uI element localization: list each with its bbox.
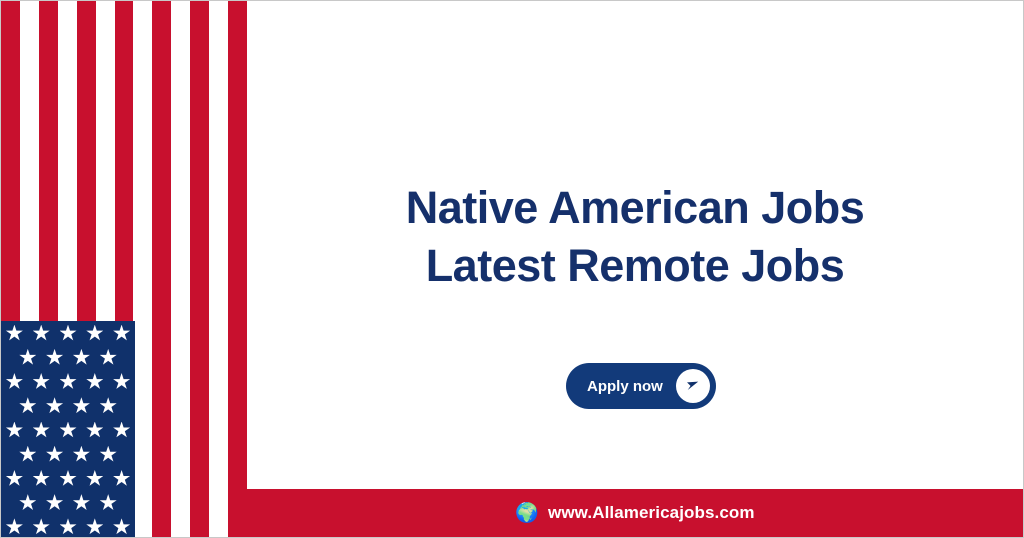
flag-canton-star-field — [1, 321, 135, 538]
flag-star — [33, 373, 50, 390]
flag-star — [60, 470, 77, 487]
flag-star — [33, 470, 50, 487]
flag-star — [6, 373, 23, 390]
flag-star — [113, 422, 130, 439]
apply-now-button[interactable]: Apply now — [566, 363, 716, 409]
flag-star — [6, 422, 23, 439]
flag-stripe — [190, 1, 209, 538]
flag-star — [19, 446, 36, 463]
flag-star — [86, 422, 103, 439]
cursor-arrow-icon — [676, 369, 710, 403]
page-title-line-2: Latest Remote Jobs — [247, 237, 1023, 295]
flag-star — [46, 494, 63, 511]
page-title-line-1: Native American Jobs — [247, 179, 1023, 237]
flag-star — [86, 470, 103, 487]
flag-star — [100, 446, 117, 463]
flag-star — [100, 397, 117, 414]
flag-star — [33, 422, 50, 439]
flag-star — [100, 494, 117, 511]
flag-star — [73, 349, 90, 366]
flag-star — [46, 349, 63, 366]
apply-now-label: Apply now — [587, 378, 663, 395]
page-title: Native American Jobs Latest Remote Jobs — [247, 179, 1023, 294]
flag-star — [60, 422, 77, 439]
content-area: Native American Jobs Latest Remote Jobs … — [247, 1, 1023, 537]
flag-star — [73, 397, 90, 414]
flag-star — [46, 397, 63, 414]
flag-star — [33, 325, 50, 342]
flag-star — [33, 518, 50, 535]
flag-star — [46, 446, 63, 463]
flag-star — [6, 470, 23, 487]
flag-star — [86, 373, 103, 390]
flag-star — [6, 325, 23, 342]
flag-star — [86, 325, 103, 342]
flag-stripe — [228, 1, 247, 538]
flag-stripe — [152, 1, 171, 538]
flag-star — [86, 518, 103, 535]
flag-star — [113, 470, 130, 487]
flag-star — [73, 446, 90, 463]
flag-star — [6, 518, 23, 535]
flag-star — [60, 325, 77, 342]
footer-website-url[interactable]: www.Allamericajobs.com — [548, 503, 755, 523]
flag-star — [60, 518, 77, 535]
flag-star — [19, 397, 36, 414]
flag-star — [73, 494, 90, 511]
footer-bar: 🌍 www.Allamericajobs.com — [247, 489, 1023, 537]
flag-star — [100, 349, 117, 366]
flag-star — [19, 349, 36, 366]
flag-star — [113, 518, 130, 535]
flag-star — [113, 373, 130, 390]
united-states-flag — [1, 1, 247, 538]
flag-star — [60, 373, 77, 390]
flag-star — [19, 494, 36, 511]
poster-canvas: Native American Jobs Latest Remote Jobs … — [0, 0, 1024, 538]
globe-icon: 🌍 — [515, 504, 539, 523]
flag-star — [113, 325, 130, 342]
